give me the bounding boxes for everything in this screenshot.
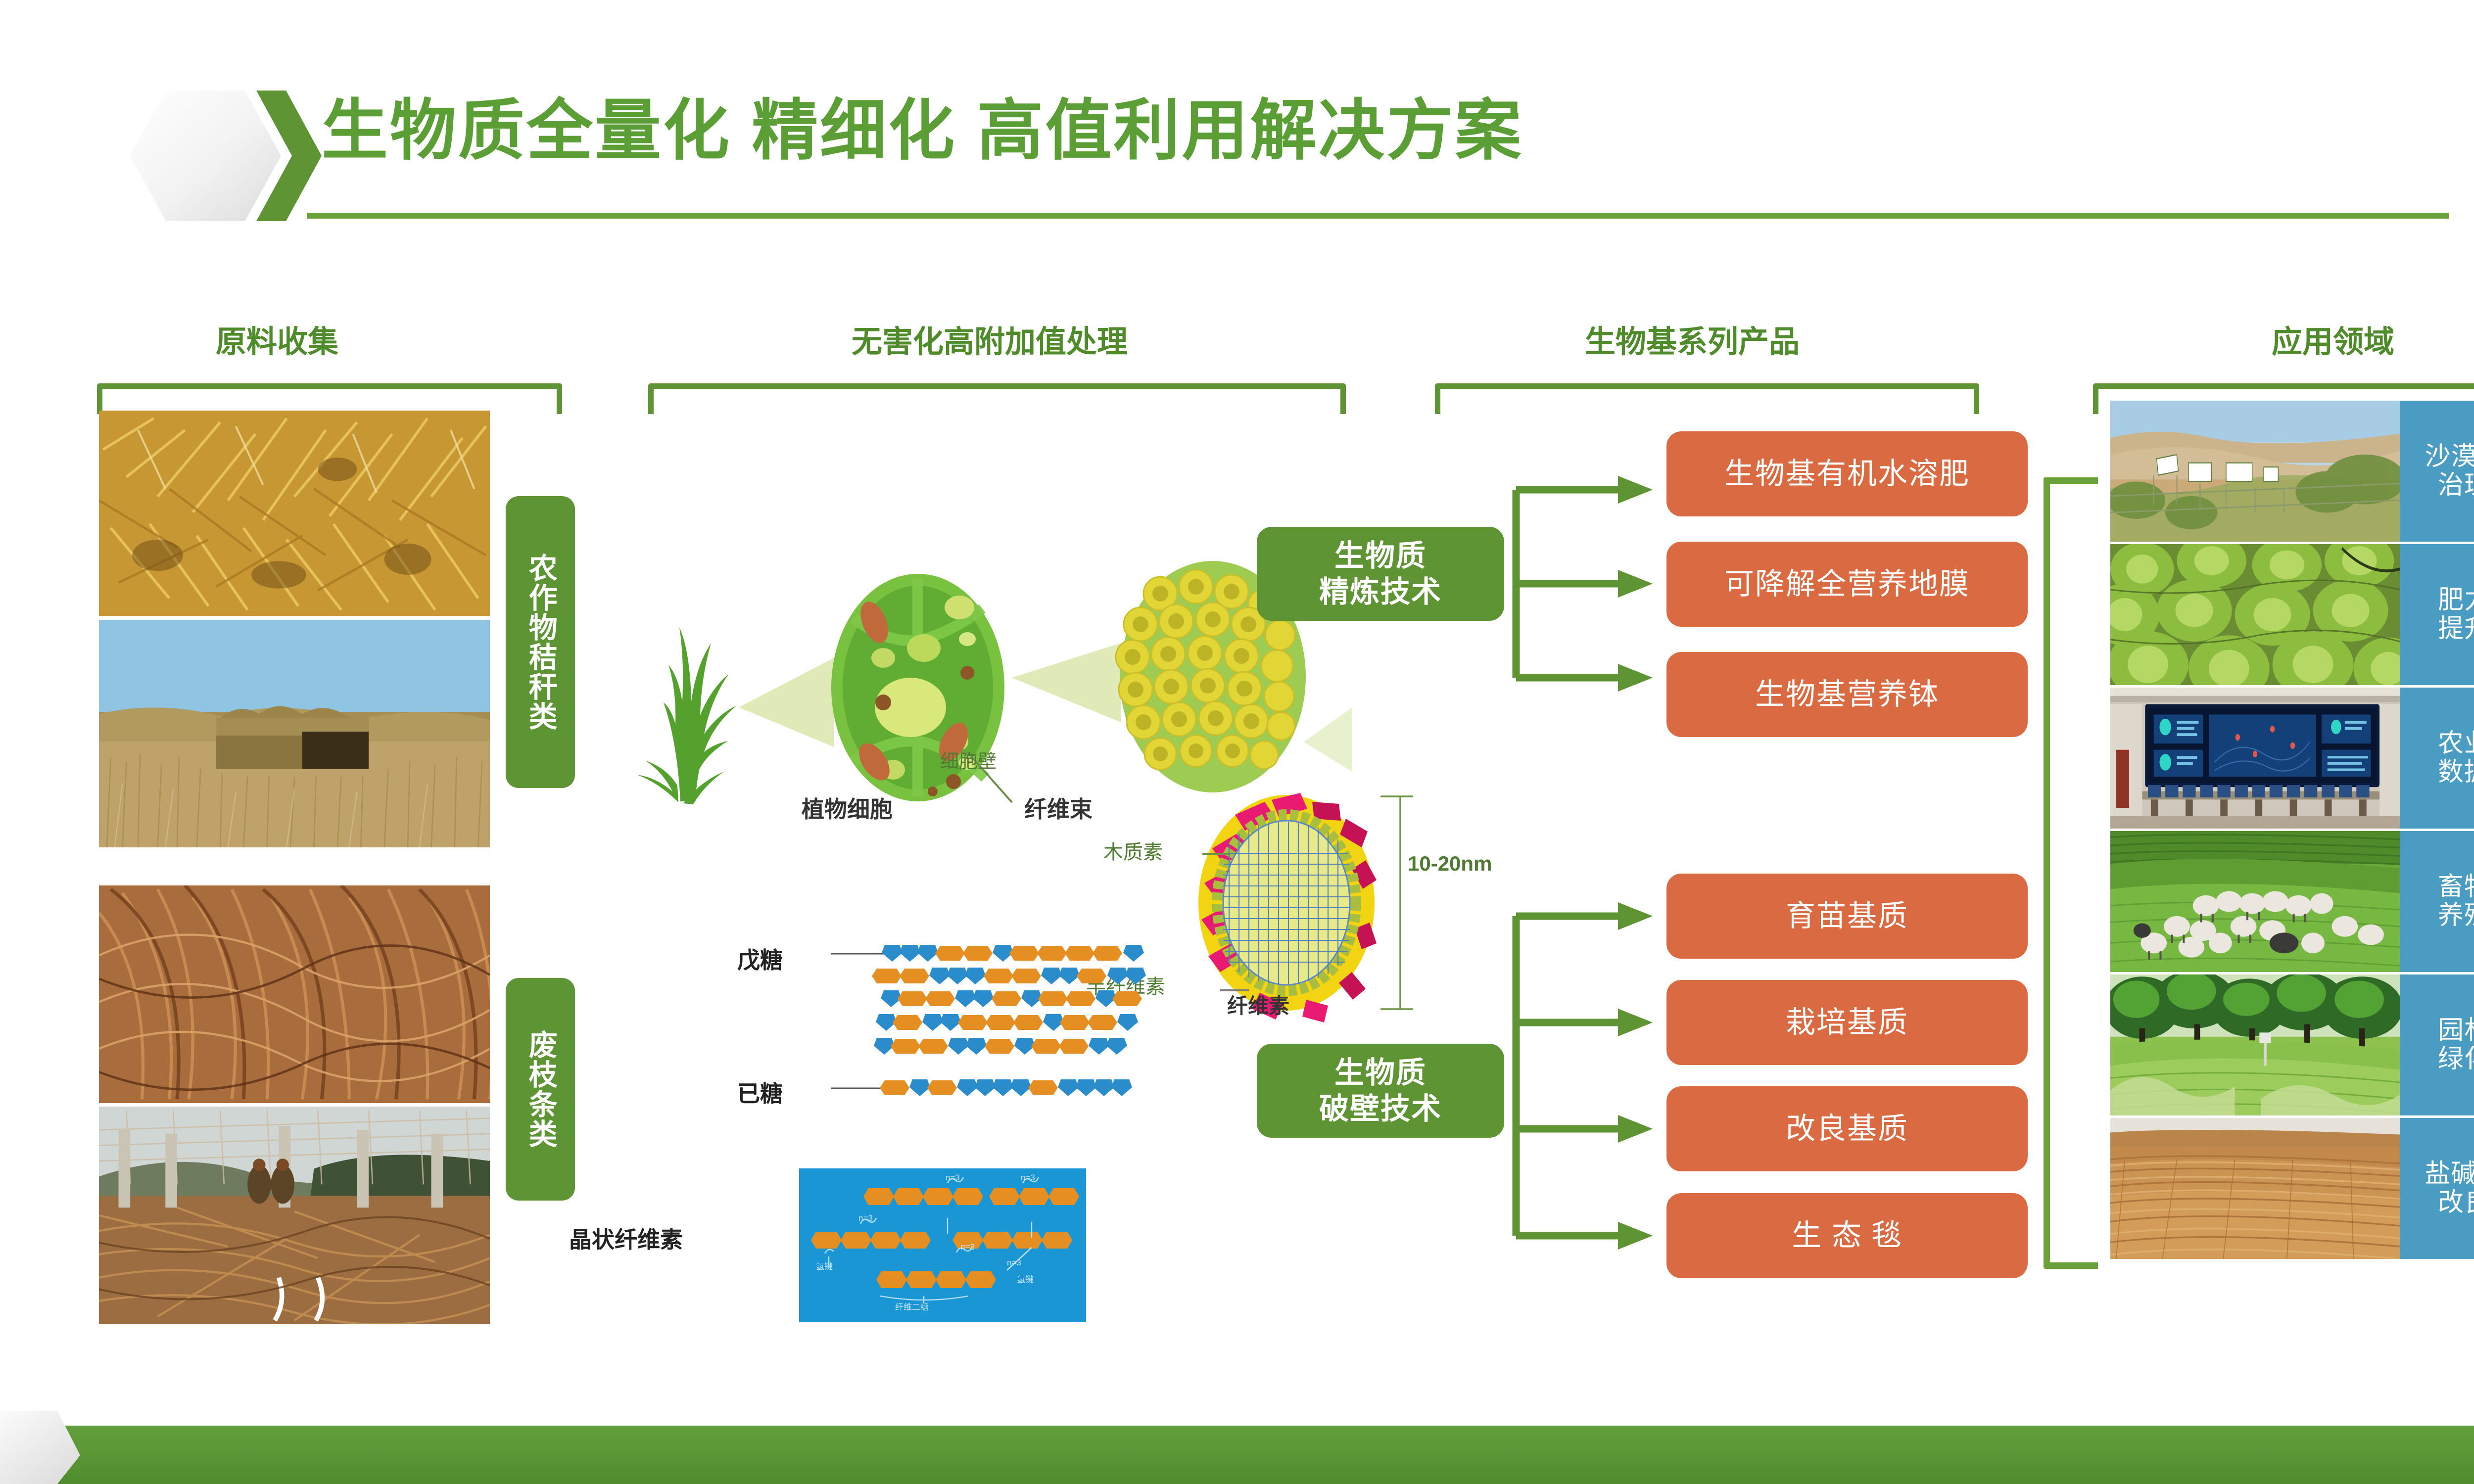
app-label-line2: 治理 <box>2438 471 2474 500</box>
svg-text:n=3: n=3 <box>1021 1173 1035 1182</box>
tech-box-refining-line2: 精炼技术 <box>1319 574 1442 610</box>
product-box-water-soluble-fertilizer[interactable]: 生物基有机水溶肥 <box>1666 431 2028 516</box>
list-item[interactable]: 畜牧 养殖 <box>2110 831 2474 972</box>
bracket-collection <box>97 383 562 414</box>
crystalline-cellulose-diagram: n=3n=3 n=3n=3 n=3 氢键氢键 纤维二糖 <box>799 1168 1086 1322</box>
app-label-line1: 盐碱地 <box>2425 1160 2474 1188</box>
svg-text:氢键: 氢键 <box>1017 1275 1034 1284</box>
svg-text:n=3: n=3 <box>1007 1258 1021 1267</box>
diagram-label-cell-wall: 细胞壁 <box>940 746 997 773</box>
park-landscape-photo <box>2110 974 2400 1115</box>
svg-text:纤维二糖: 纤维二糖 <box>895 1302 929 1312</box>
tech-box-cellwall-line1: 生物质 <box>1334 1055 1427 1091</box>
product-box-cultivation-substrate[interactable]: 栽培基质 <box>1666 980 2028 1065</box>
sheep-grazing-photo <box>2110 831 2400 972</box>
diagram-label-crystalline-cellulose: 晶状纤维素 <box>569 1222 683 1254</box>
feedstock-category-waste-branches[interactable]: 废枝条类 <box>506 978 575 1201</box>
tech-box-refining-line1: 生物质 <box>1334 538 1427 574</box>
diagram-label-pentose: 戊糖 <box>737 942 783 975</box>
column-header-products: 生物基系列产品 <box>1415 317 1969 361</box>
svg-text:n=3: n=3 <box>960 1242 975 1252</box>
svg-text:氢键: 氢键 <box>816 1262 833 1271</box>
list-item <box>99 411 490 616</box>
corn-straw-pile-photo <box>99 411 490 616</box>
slide-canvas: 生物质全量化 精细化 高值利用解决方案 原料收集 无害化高附加值处理 生物基系列… <box>0 0 2474 1484</box>
list-item[interactable]: 农业 数据 <box>2110 688 2474 829</box>
application-label-desertification-control: 沙漠化 治理 <box>2400 401 2474 542</box>
application-label-landscaping: 园林 绿化 <box>2400 974 2474 1115</box>
tech-box-refining[interactable]: 生物质 精炼技术 <box>1257 527 1504 621</box>
app-label-line1: 畜牧 <box>2438 873 2474 901</box>
application-label-fertility-improvement: 肥力 提升 <box>2400 544 2474 685</box>
pentose-hexose-rows <box>872 945 1146 1096</box>
sugar-chain-diagram <box>821 940 1178 1108</box>
column-header-collection: 原料收集 <box>89 317 465 361</box>
app-label-line2: 改良 <box>2438 1189 2474 1217</box>
orchard-pruning-photo <box>99 1107 490 1324</box>
product-box-seedling-substrate[interactable]: 育苗基质 <box>1666 874 2028 959</box>
connector-cellwall-to-products <box>1504 871 1667 1276</box>
product-box-nutrition-pot[interactable]: 生物基营养钵 <box>1666 652 2028 737</box>
bracket-processing <box>648 383 1346 414</box>
tech-box-cellwall-line2: 破壁技术 <box>1319 1091 1442 1127</box>
bracket-products <box>1435 383 1979 414</box>
diagram-label-lignin: 木质素 <box>1103 836 1163 865</box>
application-label-saline-soil-improvement: 盐碱地 改良 <box>2400 1118 2474 1259</box>
app-label-line1: 园林 <box>2438 1017 2474 1045</box>
diagram-label-cellulose: 纤维素 <box>1227 989 1289 1020</box>
list-item[interactable]: 园林 绿化 <box>2110 974 2474 1115</box>
pruned-branches-photo <box>99 885 490 1103</box>
diagram-label-fiber-bundle: 纤维束 <box>1024 791 1093 824</box>
app-label-line1: 沙漠化 <box>2425 443 2474 471</box>
rice-plant-silhouette <box>637 627 737 804</box>
baled-straw-field-photo <box>99 620 490 847</box>
product-box-ecological-blanket[interactable]: 生 态 毯 <box>1666 1193 2028 1278</box>
app-label-line2: 养殖 <box>2438 902 2474 930</box>
diagram-label-hexose: 已糖 <box>737 1076 783 1109</box>
product-box-degradable-mulch-film[interactable]: 可降解全营养地膜 <box>1666 542 2028 627</box>
application-label-animal-husbandry: 畜牧 养殖 <box>2400 831 2474 972</box>
svg-text:n=3: n=3 <box>858 1213 873 1223</box>
feedstock-category-crop-straw[interactable]: 农作物秸秆类 <box>506 496 575 788</box>
list-item[interactable]: 肥力 提升 <box>2110 544 2474 685</box>
column-header-processing: 无害化高附加值处理 <box>614 317 1366 361</box>
title-underline <box>307 213 2449 219</box>
list-item[interactable]: 盐碱地 改良 <box>2110 1118 2474 1259</box>
app-label-line2: 数据 <box>2438 758 2474 787</box>
list-item <box>99 885 490 1103</box>
app-label-line2: 提升 <box>2438 615 2474 643</box>
diagram-label-plant-cell: 植物细胞 <box>802 791 893 824</box>
diagram-label-scale: 10-20nm <box>1408 852 1492 876</box>
tech-box-cellwall-breaking[interactable]: 生物质 破壁技术 <box>1257 1044 1504 1138</box>
svg-text:n=3: n=3 <box>946 1173 960 1182</box>
product-box-improvement-substrate[interactable]: 改良基质 <box>1666 1086 2028 1171</box>
hexagon-chevron-logo-icon <box>124 82 332 230</box>
footer-band <box>0 1426 2474 1484</box>
application-label-agricultural-data: 农业 数据 <box>2400 688 2474 829</box>
connector-refining-to-products <box>1504 435 1667 732</box>
app-label-line1: 肥力 <box>2438 586 2474 614</box>
app-label-line1: 农业 <box>2438 730 2474 758</box>
list-item[interactable]: 沙漠化 治理 <box>2110 401 2474 542</box>
page-title: 生物质全量化 精细化 高值利用解决方案 <box>322 84 1905 178</box>
bracket-applications-group <box>2044 477 2098 1269</box>
column-header-applications: 应用领域 <box>2078 317 2474 361</box>
saline-soil-photo <box>2110 1118 2400 1259</box>
footer-left-chevron-decoration <box>0 1380 148 1484</box>
list-item <box>99 1107 490 1324</box>
agri-data-center-photo <box>2110 688 2400 829</box>
desert-control-photo <box>2110 401 2400 542</box>
app-label-line2: 绿化 <box>2438 1045 2474 1073</box>
cabbage-field-photo <box>2110 544 2400 685</box>
list-item <box>99 620 490 847</box>
